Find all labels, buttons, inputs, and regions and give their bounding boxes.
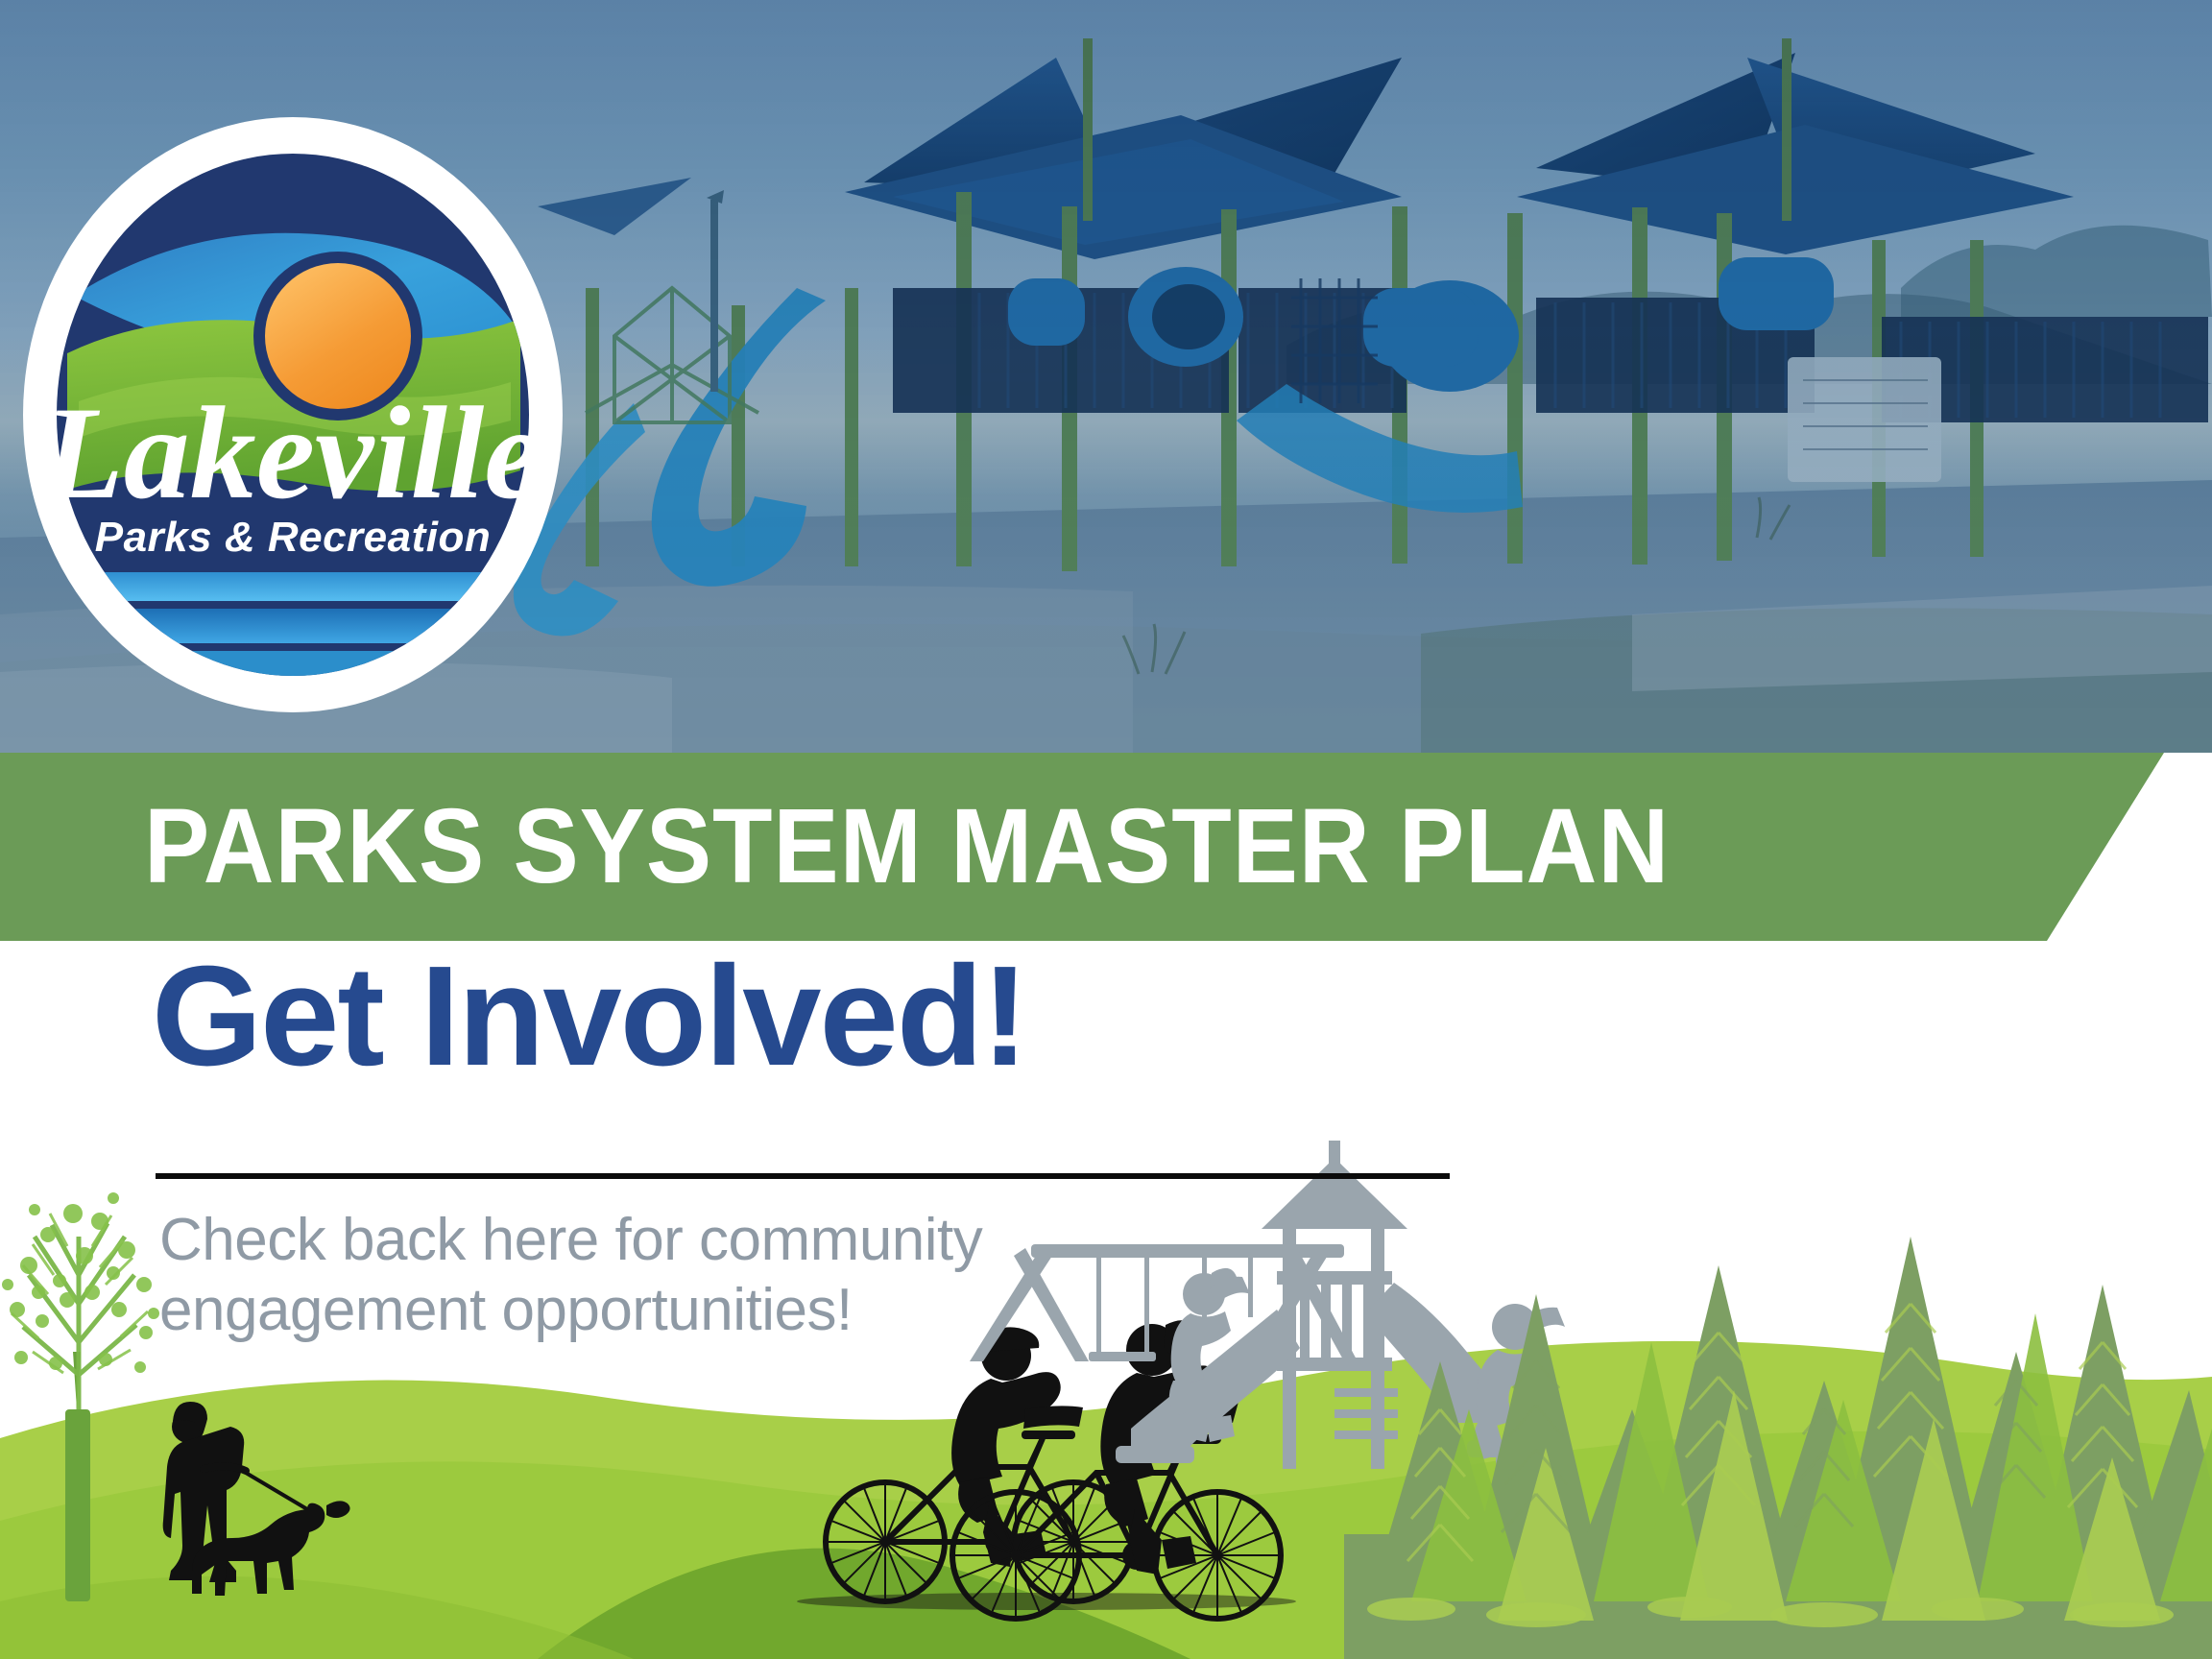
subtitle-line-2: engagement opportunities! bbox=[159, 1276, 1407, 1346]
subtitle-line-1: Check back here for community bbox=[159, 1206, 1407, 1276]
poster-canvas: Lakeville Parks & Recreation PARKS SYSTE… bbox=[0, 0, 2212, 1659]
logo-badge-artwork: Lakeville Parks & Recreation bbox=[21, 113, 565, 716]
page-subtitle: Check back here for community engagement… bbox=[159, 1206, 1407, 1345]
banner-title: PARKS SYSTEM MASTER PLAN bbox=[144, 753, 1670, 941]
page-headline: Get Involved! bbox=[152, 946, 1027, 1088]
park-scene-illustration bbox=[0, 1121, 2212, 1659]
master-plan-banner: PARKS SYSTEM MASTER PLAN bbox=[0, 753, 2212, 941]
lakeville-parks-recreation-logo[interactable]: Lakeville Parks & Recreation bbox=[21, 113, 565, 716]
headline-divider bbox=[156, 1173, 1450, 1179]
logo-tagline: Parks & Recreation bbox=[95, 514, 492, 561]
logo-wordmark: Lakeville bbox=[40, 379, 542, 526]
park-scene-artwork bbox=[0, 1121, 2212, 1659]
